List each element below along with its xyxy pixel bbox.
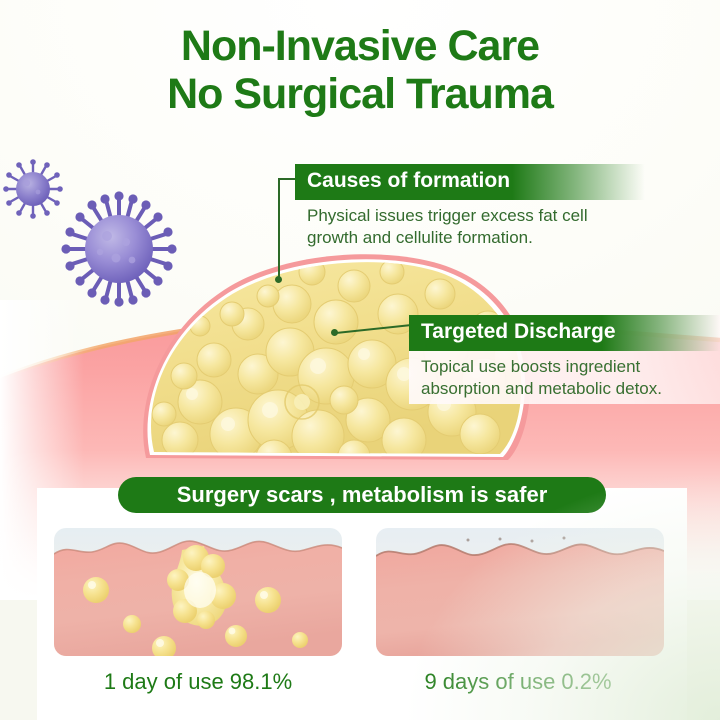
- callout-causes-banner: Causes of formation: [295, 164, 645, 200]
- background-green-tint: [300, 390, 720, 720]
- callout-discharge-heading: Targeted Discharge: [409, 315, 630, 351]
- callout-causes-body: Physical issues trigger excess fat cell …: [295, 200, 645, 253]
- title-line-1: Non-Invasive Care: [181, 22, 539, 70]
- skin-with-fat-globules-illustration: [54, 528, 342, 656]
- virus-particle-icon: [2, 158, 64, 225]
- callout-causes-body-line-1: Physical issues trigger excess fat cell: [307, 206, 588, 225]
- page-title: Non-Invasive Care No Surgical Trauma: [0, 22, 720, 118]
- callout-discharge-banner: Targeted Discharge: [409, 315, 720, 351]
- callout-causes-heading: Causes of formation: [295, 164, 524, 200]
- title-line-2: No Surgical Trauma: [0, 70, 720, 118]
- callout-discharge-body-line-1: Topical use boosts ingredient: [421, 357, 640, 376]
- callout-causes-of-formation: Causes of formation Physical issues trig…: [295, 164, 645, 253]
- callout-causes-body-line-2: growth and cellulite formation.: [307, 228, 533, 247]
- infographic-root: Non-Invasive Care No Surgical Trauma Cau…: [0, 0, 720, 720]
